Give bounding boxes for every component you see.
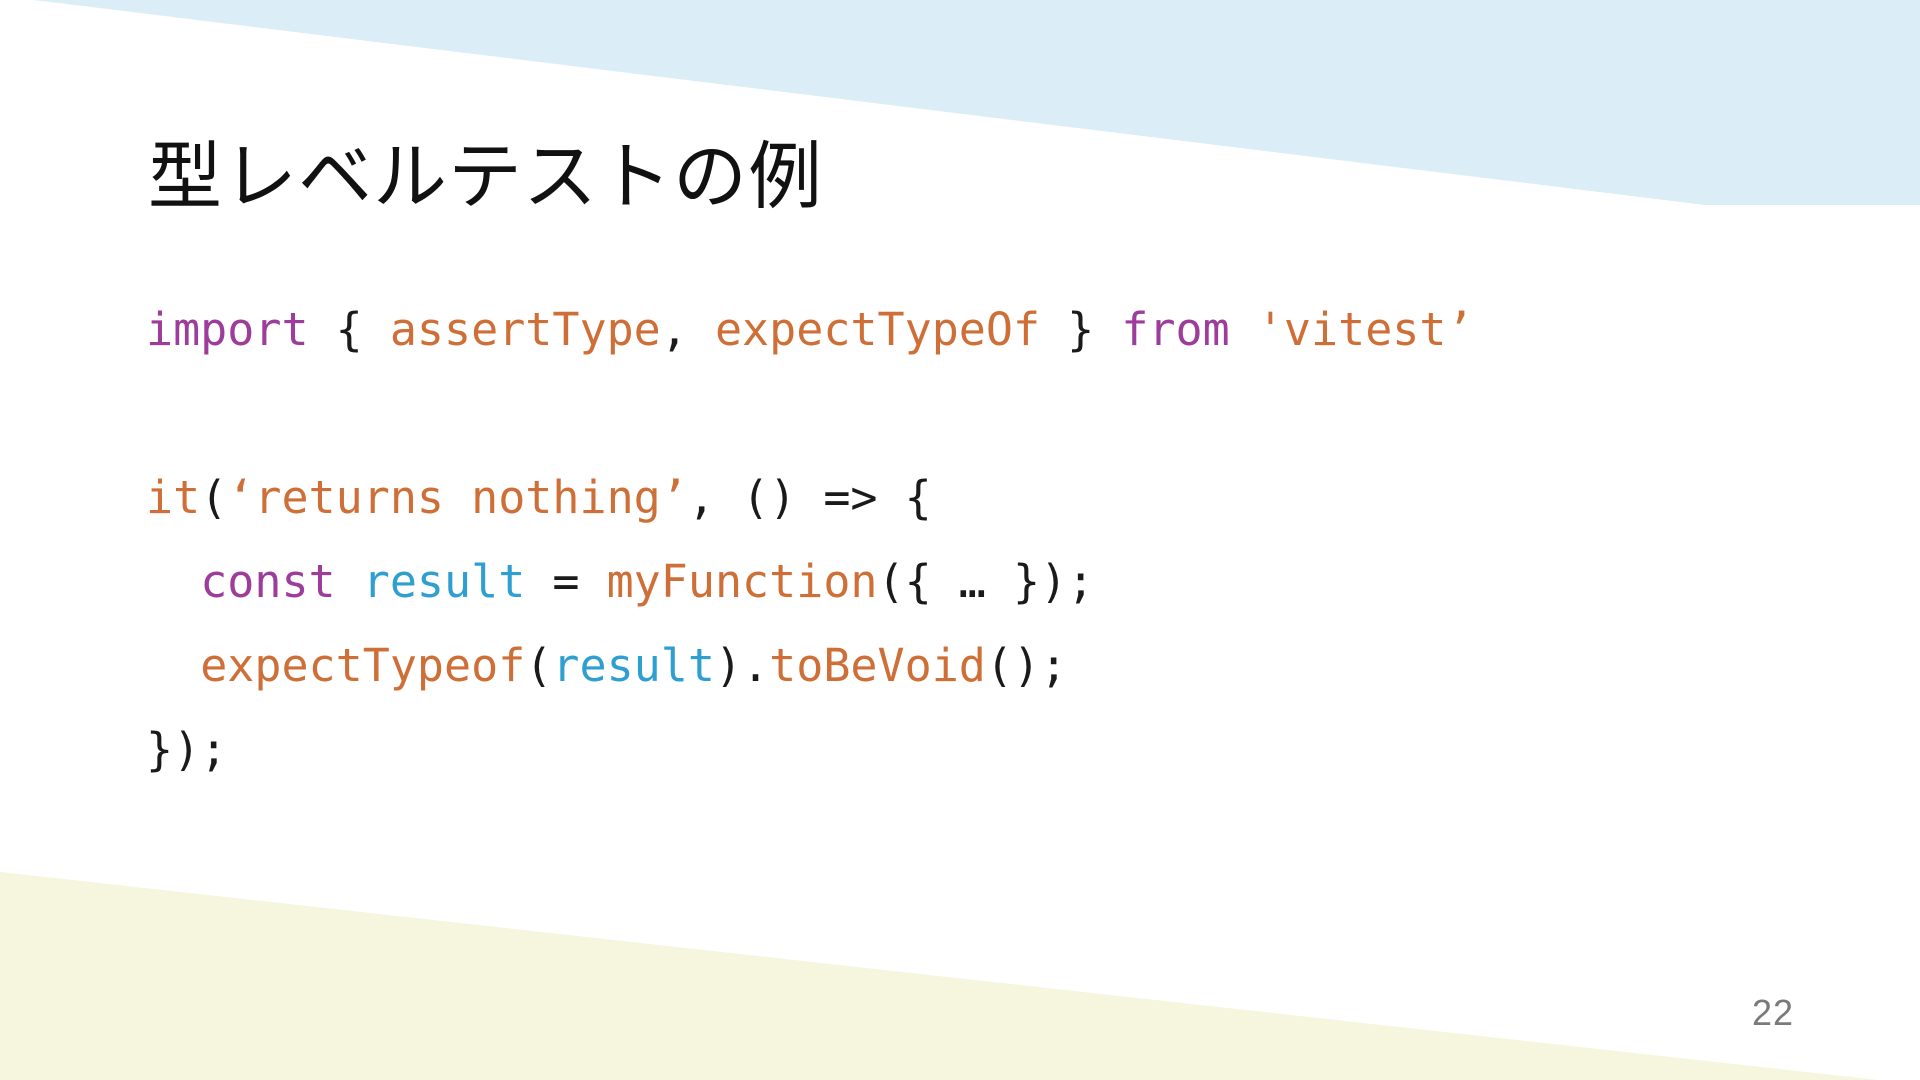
code-token-fn: myFunction <box>607 555 878 608</box>
code-token-punct: { <box>336 303 363 356</box>
code-token-punct: }); <box>146 723 227 776</box>
presentation-slide: 型レベルテストの例 import { assertType, expectTyp… <box>0 0 1920 1080</box>
code-token-kw: const <box>200 555 335 608</box>
code-token-fn: expectTypeof <box>200 639 525 692</box>
code-token-punct <box>1094 303 1121 356</box>
code-token-punct: ({ … }); <box>878 555 1095 608</box>
code-token-punct: } <box>1067 303 1094 356</box>
code-token-str: 'vitest’ <box>1257 303 1474 356</box>
code-token-punct: ). <box>715 639 769 692</box>
line-expect: expectTypeof(result).toBeVoid(); <box>146 624 1920 708</box>
code-token-fn: toBeVoid <box>769 639 986 692</box>
code-snippet: import { assertType, expectTypeOf } from… <box>146 288 1920 792</box>
code-token-punct <box>146 639 200 692</box>
code-token-fn: assertType <box>390 303 661 356</box>
page-title: 型レベルテストの例 <box>148 134 823 219</box>
code-token-punct <box>688 303 715 356</box>
code-token-str: ‘returns nothing’ <box>227 471 688 524</box>
code-token-punct <box>309 303 336 356</box>
line-it: it(‘returns nothing’, () => { <box>146 456 1920 540</box>
code-token-punct: ( <box>200 471 227 524</box>
code-token-punct: ( <box>525 639 552 692</box>
page-number: 22 <box>1752 992 1794 1034</box>
code-token-punct: , <box>661 303 688 356</box>
code-token-punct: (); <box>986 639 1067 692</box>
code-token-fn: it <box>146 471 200 524</box>
code-token-var: result <box>552 639 715 692</box>
code-token-punct <box>1230 303 1257 356</box>
code-token-punct <box>363 303 390 356</box>
code-token-punct: = <box>525 555 606 608</box>
code-token-punct <box>336 555 363 608</box>
line-blank-1 <box>146 372 1920 456</box>
code-token-kw: import <box>146 303 309 356</box>
code-token-var: result <box>363 555 526 608</box>
bottom-diagonal-band <box>0 872 1878 1080</box>
code-token-kw: from <box>1121 303 1229 356</box>
code-token-punct <box>146 555 200 608</box>
code-token-fn: expectTypeOf <box>715 303 1040 356</box>
line-close: }); <box>146 708 1920 792</box>
line-import: import { assertType, expectTypeOf } from… <box>146 288 1920 372</box>
line-const: const result = myFunction({ … }); <box>146 540 1920 624</box>
code-token-punct <box>1040 303 1067 356</box>
code-token-punct: , () => { <box>688 471 932 524</box>
